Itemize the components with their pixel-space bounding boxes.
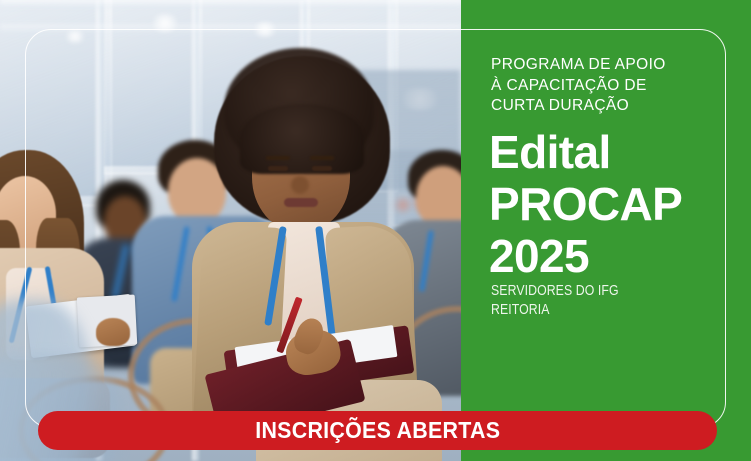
- ceiling-light: [150, 14, 180, 32]
- ceiling-beam: [0, 0, 462, 8]
- page-title: Edital PROCAP 2025: [489, 126, 682, 282]
- training-photo: [0, 0, 462, 461]
- eyebrow: [310, 156, 334, 160]
- audience-note: SERVIDORES DO IFG REITORIA: [491, 281, 619, 319]
- eyebrow: [266, 156, 290, 160]
- eye: [268, 166, 288, 171]
- warm-light-blob: [392, 196, 414, 214]
- cta-label: INSCRIÇÕES ABERTAS: [255, 417, 500, 444]
- mouth: [284, 198, 318, 207]
- poster-banner: PROGRAMA DE APOIO À CAPACITAÇÃO DE CURTA…: [0, 0, 751, 461]
- ceiling-light: [64, 30, 86, 43]
- eye: [312, 166, 332, 171]
- nose: [291, 176, 309, 194]
- ceiling-light: [252, 22, 278, 37]
- text-block: PROGRAMA DE APOIO À CAPACITAÇÃO DE CURTA…: [491, 0, 741, 461]
- hand: [96, 318, 130, 346]
- program-kicker: PROGRAMA DE APOIO À CAPACITAÇÃO DE CURTA…: [491, 55, 666, 117]
- cta-banner[interactable]: INSCRIÇÕES ABERTAS: [38, 411, 717, 450]
